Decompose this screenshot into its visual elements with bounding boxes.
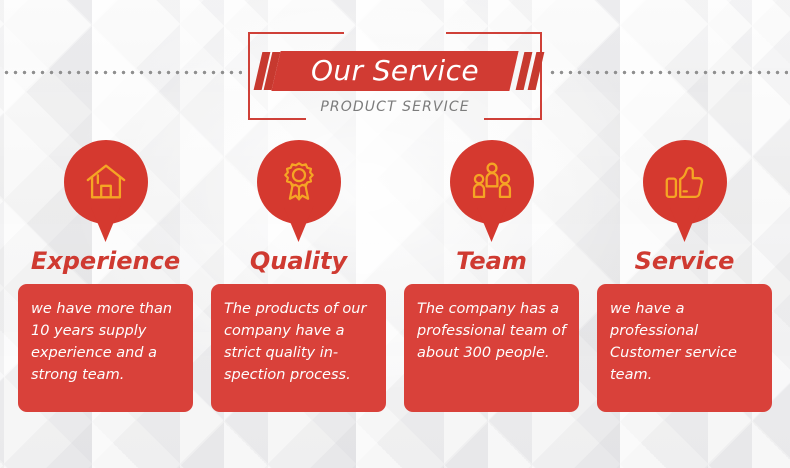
feature-card: we have a professional Customer service … — [597, 284, 772, 412]
pin-tail — [284, 206, 314, 242]
pin-tail — [670, 206, 700, 242]
icon-pin-team — [450, 140, 534, 244]
feature-card: The company has a professional team of a… — [404, 284, 579, 412]
icon-pin-service — [643, 140, 727, 244]
feature-column-experience: Experience we have more than 10 years su… — [18, 140, 193, 468]
feature-column-team: Team The company has a professional team… — [404, 140, 579, 468]
dotted-rule-right — [548, 70, 788, 75]
house-icon — [83, 159, 129, 205]
feature-card: The products of our company have a stric… — [211, 284, 386, 412]
icon-pin-quality — [257, 140, 341, 244]
medal-ribbon-icon — [276, 159, 322, 205]
pin-tail — [477, 206, 507, 242]
feature-column-quality: Quality The products of our company have… — [211, 140, 386, 468]
service-section: Our Service PRODUCT SERVICE Experience — [0, 0, 790, 468]
feature-card: we have more than 10 years supply experi… — [18, 284, 193, 412]
people-group-icon — [469, 159, 515, 205]
feature-title: Service — [635, 246, 735, 276]
frame-bottom-left-segment — [248, 118, 306, 120]
feature-columns: Experience we have more than 10 years su… — [0, 140, 790, 468]
frame-top-right-segment — [446, 32, 542, 34]
section-header: Our Service PRODUCT SERVICE — [0, 0, 790, 132]
page-subtitle: PRODUCT SERVICE — [248, 99, 542, 115]
feature-column-service: Service we have a professional Customer … — [597, 140, 772, 468]
frame-top-left-segment — [248, 32, 344, 34]
dotted-rule-left — [2, 70, 242, 75]
icon-pin-experience — [64, 140, 148, 244]
feature-title: Team — [456, 246, 527, 276]
pin-tail — [91, 206, 121, 242]
frame-bottom-right-segment — [484, 118, 542, 120]
feature-title: Quality — [250, 246, 347, 276]
thumbs-up-icon — [662, 159, 708, 205]
feature-title: Experience — [31, 246, 180, 276]
page-title: Our Service — [248, 52, 542, 90]
